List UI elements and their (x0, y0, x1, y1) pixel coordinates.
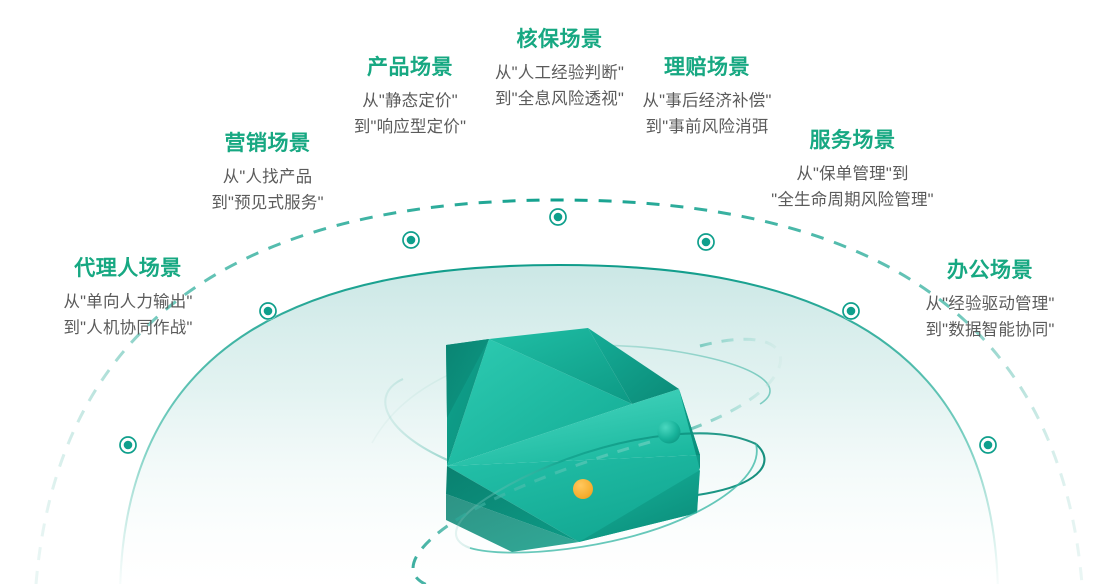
scenario-label-office: 办公场景 从"经验驱动管理" 到"数据智能协同" (880, 260, 1100, 343)
scenario-line2-marketing: 到"预见式服务" (160, 191, 375, 217)
infographic-canvas: 代理人场景 从"单向人力输出" 到"人机协同作战" 营销场景 从"人找产品 到"… (0, 0, 1118, 584)
scenario-line2-agent: 到"人机协同作战" (18, 316, 238, 342)
scenario-label-agent: 代理人场景 从"单向人力输出" 到"人机协同作战" (18, 258, 238, 341)
scenario-line2-office: 到"数据智能协同" (880, 318, 1100, 344)
scenario-line2-product: 到"响应型定价" (305, 115, 515, 141)
marker-core-service (847, 307, 856, 316)
scenario-title-agent: 代理人场景 (18, 258, 238, 279)
marker-core-marketing (264, 307, 273, 316)
scenario-title-office: 办公场景 (880, 260, 1100, 281)
scenario-line1-claims: 从"事后经济补偿" (602, 89, 812, 115)
arc-marker-office[interactable] (979, 436, 997, 454)
marker-core-agent (124, 441, 133, 450)
scenario-line2-service: "全生命周期风险管理" (740, 188, 965, 214)
arc-marker-marketing[interactable] (259, 302, 277, 320)
scenario-title-service: 服务场景 (740, 130, 965, 151)
teal-orbit-sphere (658, 421, 681, 444)
arc-marker-product[interactable] (402, 231, 420, 249)
orange-orbit-dot (573, 479, 593, 499)
arc-marker-claims[interactable] (697, 233, 715, 251)
marker-core-product (407, 236, 416, 245)
arc-marker-underwriting[interactable] (549, 208, 567, 226)
arc-marker-service[interactable] (842, 302, 860, 320)
scenario-label-marketing: 营销场景 从"人找产品 到"预见式服务" (160, 133, 375, 216)
scenario-title-underwriting: 核保场景 (452, 29, 667, 50)
scenario-line1-office: 从"经验驱动管理" (880, 292, 1100, 318)
scenario-line1-agent: 从"单向人力输出" (18, 290, 238, 316)
scenario-line1-marketing: 从"人找产品 (160, 165, 375, 191)
marker-core-underwriting (554, 213, 563, 222)
marker-core-claims (702, 238, 711, 247)
scenario-label-service: 服务场景 从"保单管理"到 "全生命周期风险管理" (740, 130, 965, 213)
scenario-title-claims: 理赔场景 (602, 57, 812, 78)
scenario-label-claims: 理赔场景 从"事后经济补偿" 到"事前风险消弭 (602, 57, 812, 140)
scenario-line1-service: 从"保单管理"到 (740, 162, 965, 188)
marker-core-office (984, 441, 993, 450)
arc-marker-agent[interactable] (119, 436, 137, 454)
